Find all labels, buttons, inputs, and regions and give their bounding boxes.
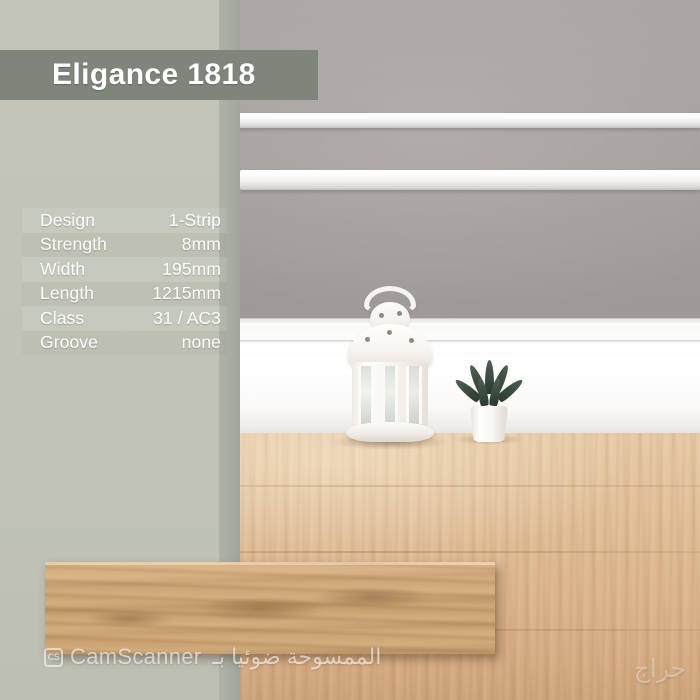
lantern-glass-pane xyxy=(382,366,398,424)
spec-row-strength: Strength 8mm xyxy=(22,233,227,258)
spec-value: 8mm xyxy=(182,236,221,254)
camscanner-label: CamScanner xyxy=(70,644,201,670)
spec-label: Groove xyxy=(40,334,98,352)
spec-label: Strength xyxy=(40,236,107,254)
specification-table: Design 1-Strip Strength 8mm Width 195mm … xyxy=(22,208,227,355)
spec-value: 1215mm xyxy=(152,285,221,303)
decor-potted-succulent xyxy=(458,360,520,442)
title-banner: Eligance 1818 xyxy=(0,50,318,100)
spec-value: 195mm xyxy=(162,261,221,279)
product-card: Eligance 1818 Design 1-Strip Strength 8m… xyxy=(0,0,700,700)
spec-row-length: Length 1215mm xyxy=(22,282,227,307)
wall-molding-upper xyxy=(226,113,700,128)
spec-row-class: Class 31 / AC3 xyxy=(22,306,227,331)
camscanner-logo-icon: CS xyxy=(44,648,63,667)
lantern-base xyxy=(346,422,434,442)
lantern-glass-pane xyxy=(406,366,422,424)
product-title: Eligance 1818 xyxy=(0,58,256,92)
baseboard-cap xyxy=(232,318,700,325)
spec-row-design: Design 1-Strip xyxy=(22,208,227,233)
spec-row-width: Width 195mm xyxy=(22,257,227,282)
lantern-body xyxy=(352,362,428,428)
baseboard-groove xyxy=(232,340,700,343)
spec-value: 1-Strip xyxy=(169,212,221,230)
spec-row-groove: Groove none xyxy=(22,331,227,356)
spec-label: Design xyxy=(40,212,95,230)
camscanner-arabic-label: الممسوحة ضوئيا بـ xyxy=(212,644,381,670)
spec-value: none xyxy=(182,334,221,352)
plant-pot xyxy=(470,406,508,442)
plank-sample-swatch xyxy=(45,562,495,654)
camscanner-watermark: CS CamScanner الممسوحة ضوئيا بـ xyxy=(44,644,381,670)
spec-label: Class xyxy=(40,310,84,328)
corner-arabic-watermark: حراج xyxy=(634,654,686,684)
plank-top-highlight xyxy=(45,562,495,565)
molding-highlight-upper xyxy=(226,114,700,118)
molding-highlight-lower xyxy=(240,171,700,175)
decor-lantern xyxy=(340,286,440,446)
wall-molding-lower xyxy=(240,170,700,190)
lantern-glass-pane xyxy=(358,366,374,424)
spec-value: 31 / AC3 xyxy=(153,310,221,328)
spec-label: Width xyxy=(40,261,85,279)
spec-label: Length xyxy=(40,285,94,303)
